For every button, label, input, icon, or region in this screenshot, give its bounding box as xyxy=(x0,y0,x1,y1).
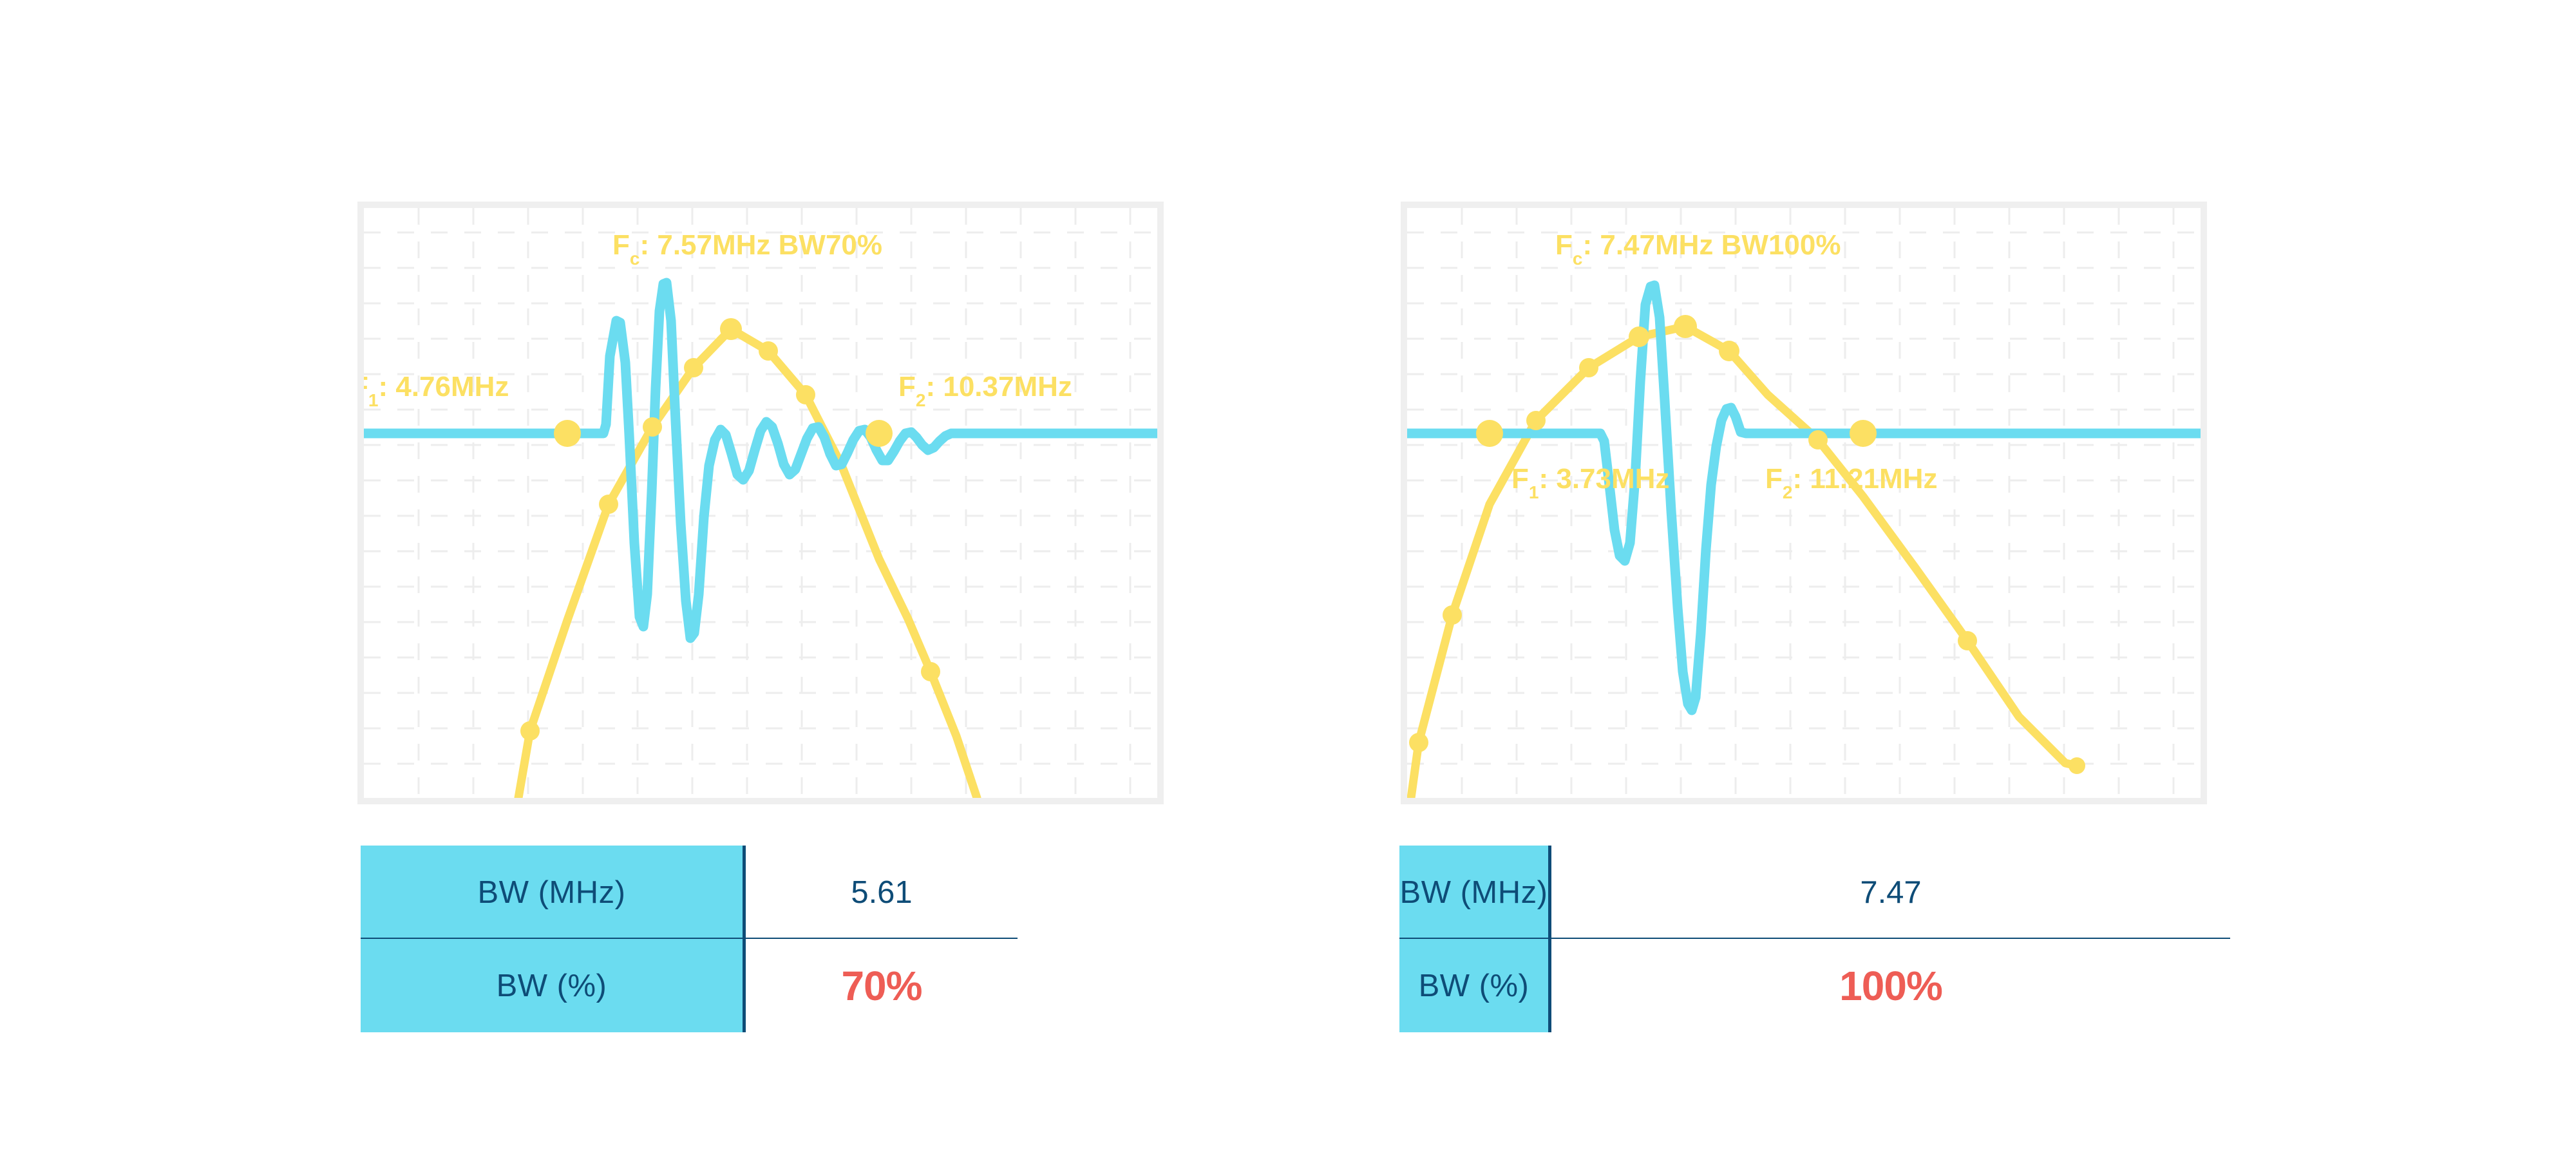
marker-f1 xyxy=(554,420,581,447)
f2-prefix: F xyxy=(898,371,916,402)
table-header-label: BW (%) xyxy=(1419,968,1529,1004)
gridlines xyxy=(1407,208,2201,798)
spectrum-markers xyxy=(1409,315,2085,774)
fc-text: : 7.57MHz BW70% xyxy=(639,229,882,261)
rf-waveform xyxy=(1407,285,2201,710)
bandwidth-table-broadband: BW (MHz) 7.47 BW (%) 100% xyxy=(1399,846,2230,1032)
gridlines xyxy=(364,208,1157,798)
table-row: BW (MHz) 7.47 xyxy=(1399,846,2230,939)
table-value-bw-mhz: 7.47 xyxy=(1860,875,1921,911)
figure-canvas: Fc: 7.57MHz BW70% F1: 4.76MHz F2: 10.37M… xyxy=(0,0,2576,1154)
label-f1: F1: 4.76MHz xyxy=(364,371,509,410)
rf-waveform xyxy=(364,283,1157,638)
table-row: BW (%) 100% xyxy=(1399,939,2230,1032)
f2-subscript: 2 xyxy=(1783,482,1793,502)
plot-broadband: Fc: 7.47MHz BW100% F1: 3.73MHz F2: 11.21… xyxy=(1401,202,2207,804)
table-header-label: BW (MHz) xyxy=(1400,875,1548,911)
fc-subscript: c xyxy=(630,249,640,269)
bandwidth-table-narrowband: BW (MHz) 5.61 BW (%) 70% xyxy=(361,846,1018,1032)
table-value-cell: 5.61 xyxy=(746,846,1018,939)
table-header-label: BW (%) xyxy=(497,968,607,1004)
table-value-cell: 100% xyxy=(1551,939,2230,1032)
spectrum-curve xyxy=(1411,326,2077,798)
f1-prefix: F xyxy=(1511,463,1529,495)
table-value-bw-mhz: 5.61 xyxy=(851,875,912,911)
table-header-cell: BW (%) xyxy=(361,939,746,1032)
table-value-cell: 7.47 xyxy=(1551,846,2230,939)
label-f2: F2: 11.21MHz xyxy=(1765,463,1937,502)
f1-text: : 4.76MHz xyxy=(378,371,509,402)
fc-prefix: F xyxy=(1555,229,1573,261)
panel-broadband: Fc: 7.47MHz BW100% F1: 3.73MHz F2: 11.21… xyxy=(1043,0,2331,1154)
table-value-bw-percent: 70% xyxy=(841,962,922,1010)
marker-f2 xyxy=(1850,420,1877,447)
f2-subscript: 2 xyxy=(916,390,926,410)
plot-svg-narrowband: Fc: 7.57MHz BW70% F1: 4.76MHz F2: 10.37M… xyxy=(364,208,1157,798)
label-center-frequency: Fc: 7.57MHz BW70% xyxy=(612,229,882,269)
table-row: BW (MHz) 5.61 xyxy=(361,846,1018,939)
f2-prefix: F xyxy=(1765,463,1783,495)
fc-subscript: c xyxy=(1573,249,1583,269)
table-header-label: BW (MHz) xyxy=(478,875,626,911)
table-header-cell: BW (%) xyxy=(1399,939,1551,1032)
marker-f2 xyxy=(866,420,893,447)
f1-subscript: 1 xyxy=(1529,482,1539,502)
table-header-cell: BW (MHz) xyxy=(361,846,746,939)
table-value-cell: 70% xyxy=(746,939,1018,1032)
fc-prefix: F xyxy=(612,229,630,261)
f1-prefix: F xyxy=(364,371,368,402)
label-f1: F1: 3.73MHz xyxy=(1511,463,1669,502)
marker-f1 xyxy=(1476,420,1503,447)
plot-svg-broadband: Fc: 7.47MHz BW100% F1: 3.73MHz F2: 11.21… xyxy=(1407,208,2201,798)
fc-text: : 7.47MHz BW100% xyxy=(1582,229,1841,261)
f1-text: : 3.73MHz xyxy=(1539,463,1669,495)
f2-text: : 11.21MHz xyxy=(1792,463,1937,495)
table-header-cell: BW (MHz) xyxy=(1399,846,1551,939)
table-value-bw-percent: 100% xyxy=(1839,962,1942,1010)
f1-subscript: 1 xyxy=(368,390,379,410)
table-row: BW (%) 70% xyxy=(361,939,1018,1032)
label-center-frequency: Fc: 7.47MHz BW100% xyxy=(1555,229,1841,269)
